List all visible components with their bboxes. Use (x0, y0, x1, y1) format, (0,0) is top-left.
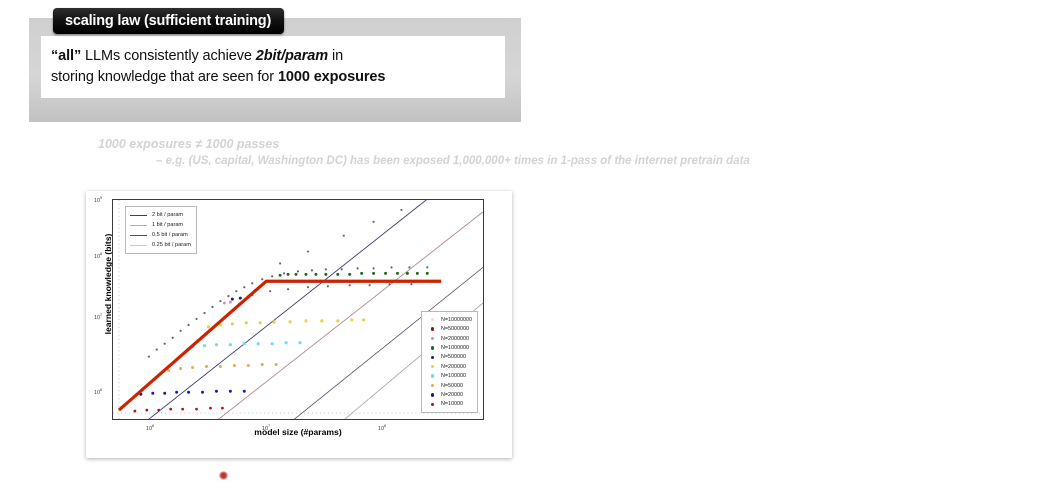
reference-line-legend: 2 bit / param 1 bit / param 0.5 bit / pa… (125, 206, 197, 254)
series-legend-row: N=100000 (426, 371, 472, 380)
callout-emphasis-2bit-param: 2bit/param (256, 48, 328, 64)
series-label: N=5000000 (441, 326, 469, 332)
series-legend-row: N=50000 (426, 381, 472, 390)
series-label: N=10000000 (441, 317, 472, 323)
header-tab: scaling law (sufficient training) (53, 8, 284, 34)
series-label: N=100000 (441, 373, 466, 379)
series-dot (431, 327, 434, 330)
subnotes-block: 1000 exposures ≠ 1000 passes – e.g. (US,… (98, 136, 1028, 170)
series-legend-row: N=500000 (426, 353, 472, 362)
series-legend-row: N=10000 (426, 400, 472, 409)
legend-row-0p5bit: 0.5 bit / param (130, 230, 191, 240)
legend-swatch-0p25bit (130, 245, 147, 246)
figure-panel: learned knowledge (bits) model size (#pa… (86, 191, 512, 458)
series-label: N=2000000 (441, 336, 469, 342)
x-tick-label-0: 106 (146, 423, 154, 432)
series-dot (431, 356, 434, 359)
legend-label-0p25bit: 0.25 bit / param (152, 242, 191, 248)
callout-line-1: “all” LLMs consistently achieve 2bit/par… (51, 46, 495, 67)
y-tick-label-0: 109 (94, 195, 102, 204)
series-legend-row: N=2000000 (426, 334, 472, 343)
y-tick-label-2: 107 (94, 312, 102, 321)
series-legend-row: N=200000 (426, 362, 472, 371)
legend-label-1bit: 1 bit / param (152, 222, 183, 228)
callout-line2-pre: storing knowledge that are seen for (51, 69, 278, 85)
series-legend: N=10000000 N=5000000 N=2000000 N=1000000… (421, 311, 478, 413)
series-dot (431, 384, 434, 387)
legend-swatch-1bit (130, 225, 147, 226)
header-tab-label: scaling law (sufficient training) (65, 13, 271, 29)
highlight-scaling-line (119, 281, 441, 410)
legend-label-2bit: 2 bit / param (152, 212, 183, 218)
x-tick-label-1: 107 (262, 423, 270, 432)
legend-row-0p25bit: 0.25 bit / param (130, 240, 191, 250)
red-bullet-marker (219, 471, 228, 480)
y-tick-label-1: 108 (94, 251, 102, 260)
legend-label-0p5bit: 0.5 bit / param (152, 232, 188, 238)
series-legend-row: N=20000 (426, 390, 472, 399)
legend-swatch-0p5bit (130, 235, 147, 236)
series-legend-row: N=5000000 (426, 324, 472, 333)
y-tick-label-3: 106 (94, 387, 102, 396)
callout-all-word: “all” (51, 48, 81, 64)
callout-line1-post: in (328, 48, 343, 64)
legend-row-1bit: 1 bit / param (130, 220, 191, 230)
series-dot (431, 318, 434, 321)
subnote-line-1: 1000 exposures ≠ 1000 passes (98, 136, 1028, 153)
callout-strong-1000-exposures: 1000 exposures (278, 69, 385, 85)
legend-swatch-2bit (130, 215, 147, 216)
series-dot (431, 374, 434, 377)
series-label: N=500000 (441, 354, 466, 360)
series-dot (431, 337, 434, 340)
series-label: N=1000000 (441, 345, 469, 351)
series-label: N=20000 (441, 392, 463, 398)
series-legend-row: N=1000000 (426, 343, 472, 352)
x-axis-label: model size (#params) (112, 427, 484, 437)
legend-row-2bit: 2 bit / param (130, 210, 191, 220)
x-tick-label-2: 108 (378, 423, 386, 432)
header-callout-box: “all” LLMs consistently achieve 2bit/par… (41, 36, 505, 98)
series-label: N=200000 (441, 364, 466, 370)
series-legend-row: N=10000000 (426, 315, 472, 324)
plot-area: 2 bit / param 1 bit / param 0.5 bit / pa… (112, 199, 484, 420)
series-label: N=10000 (441, 401, 463, 407)
series-label: N=50000 (441, 383, 463, 389)
series-dot (431, 365, 434, 368)
callout-line-2: storing knowledge that are seen for 1000… (51, 67, 495, 88)
subnote-line-2: – e.g. (US, capital, Washington DC) has … (156, 153, 1028, 170)
callout-line1-mid: LLMs consistently achieve (81, 48, 256, 64)
series-dot (431, 393, 434, 396)
series-dot (431, 403, 434, 406)
series-dot (431, 346, 434, 349)
